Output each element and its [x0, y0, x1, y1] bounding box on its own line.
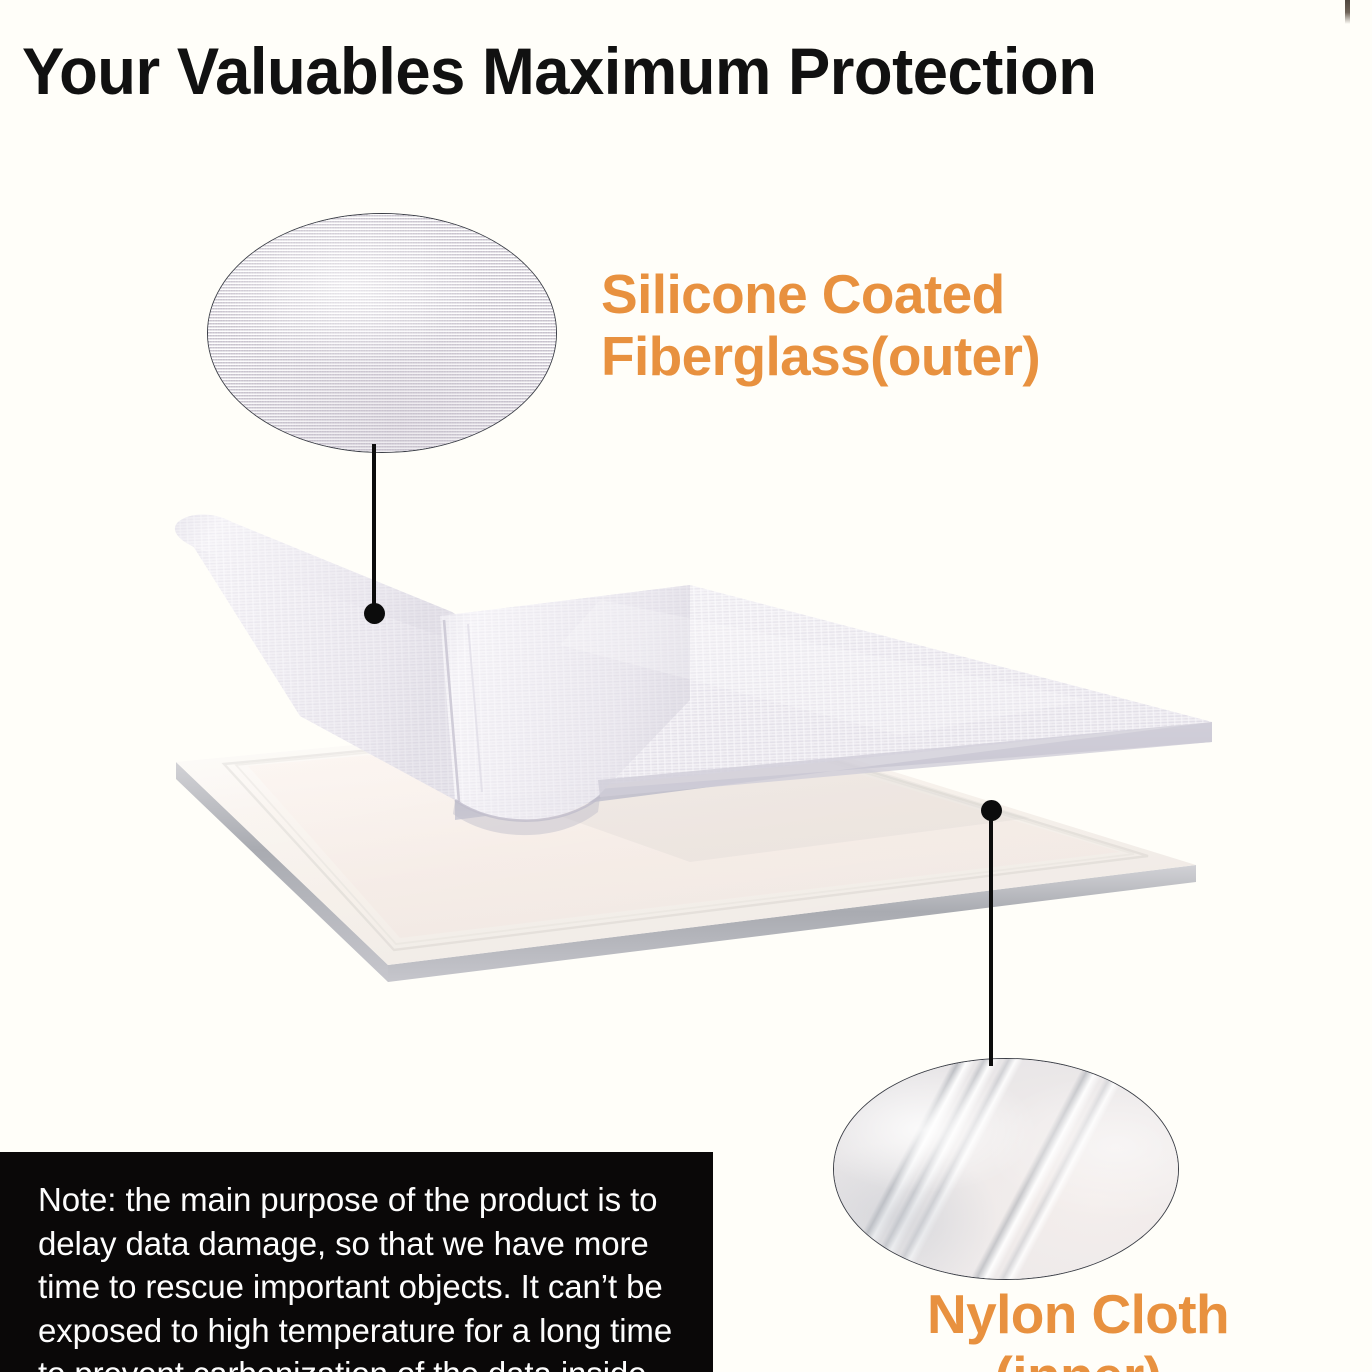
magnifier-gloss-overlay — [834, 1059, 1178, 1279]
callout-label-nylon: Nylon Cloth (inner) — [843, 1283, 1313, 1372]
magnifier-gloss-overlay — [208, 214, 556, 452]
note-box: Note: the main purpose of the product is… — [0, 1152, 713, 1372]
note-text: Note: the main purpose of the product is… — [38, 1178, 687, 1372]
callout-fiberglass-line2: Fiberglass(outer) — [601, 325, 1161, 387]
product-infographic: Your Valuables Maximum Protection — [0, 0, 1372, 1372]
leader-line-fiberglass — [372, 444, 376, 616]
callout-nylon-line2: (inner) — [843, 1345, 1313, 1372]
callout-label-fiberglass: Silicone Coated Fiberglass(outer) — [601, 263, 1161, 387]
callout-fiberglass-line1: Silicone Coated — [601, 263, 1005, 325]
magnifier-fiberglass-texture — [207, 213, 557, 453]
leader-line-nylon — [989, 812, 993, 1066]
leader-dot-nylon — [981, 800, 1002, 821]
leader-dot-fiberglass — [364, 603, 385, 624]
magnifier-nylon-texture — [833, 1058, 1179, 1280]
callout-nylon-line1: Nylon Cloth — [927, 1283, 1229, 1345]
